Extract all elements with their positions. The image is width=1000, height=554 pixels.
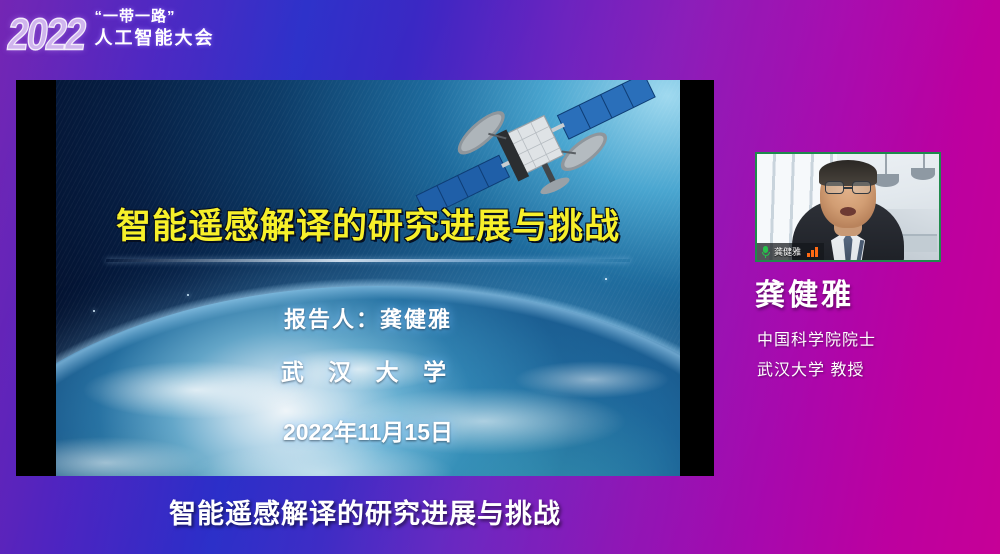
speaker-affiliations: 中国科学院院士 武汉大学 教授 (757, 326, 977, 386)
logo-conference-name: 人工智能大会 (95, 27, 215, 50)
pendant-lamp-icon (911, 168, 935, 180)
slide-presenter: 报告人：龚健雅 (56, 302, 680, 334)
broadcast-stage: 2022 “一带一路” 人工智能大会 (0, 0, 1000, 554)
speaker-affiliation-0: 中国科学院院士 (757, 326, 977, 356)
slide-caption: 智能遥感解译的研究进展与挑战 (16, 492, 714, 531)
speaker-video-tile[interactable]: 龚健雅 (755, 152, 941, 262)
slide-date: 2022年11月15日 (56, 413, 680, 447)
slide-organization: 武 汉 大 学 (56, 353, 680, 387)
eyeglasses-left-lens (825, 181, 844, 194)
speaker-name: 龚健雅 (755, 270, 955, 314)
signal-bars-icon (807, 246, 818, 257)
logo-wordmark: “一带一路” 人工智能大会 (95, 6, 215, 49)
speaker-affiliation-1: 武汉大学 教授 (757, 356, 977, 386)
shared-slide-frame[interactable]: 智能遥感解译的研究进展与挑战 报告人：龚健雅 武 汉 大 学 2022年11月1… (16, 80, 714, 476)
conference-logo: 2022 “一带一路” 人工智能大会 (12, 6, 215, 50)
eyeglasses-bridge (844, 187, 852, 189)
presentation-slide: 智能遥感解译的研究进展与挑战 报告人：龚健雅 武 汉 大 学 2022年11月1… (56, 80, 680, 476)
eyeglasses-right-lens (852, 181, 871, 194)
slide-title: 智能遥感解译的研究进展与挑战 (56, 198, 680, 249)
video-nametag-label: 龚健雅 (774, 245, 801, 258)
video-nametag-overlay: 龚健雅 (757, 243, 824, 260)
microphone-icon (761, 246, 770, 258)
slide-divider (106, 259, 630, 262)
logo-slogan: “一带一路” (95, 8, 215, 27)
lamp-cord (885, 154, 887, 176)
logo-year: 2022 (5, 6, 89, 58)
speaker-mouth (840, 207, 856, 216)
